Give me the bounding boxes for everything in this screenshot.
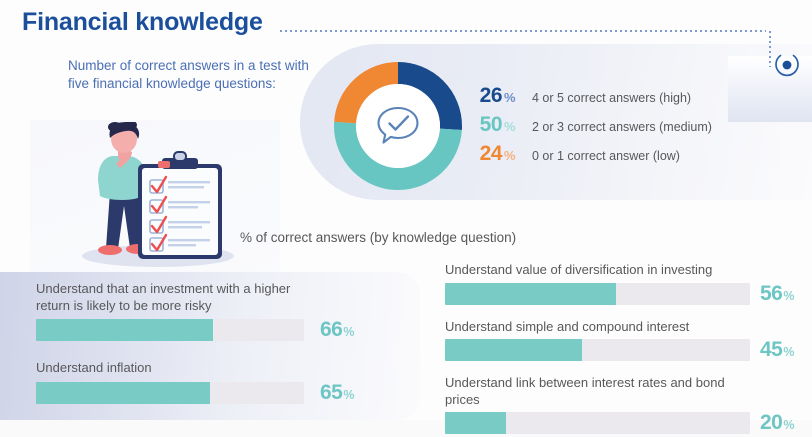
bar-value-number-diversification: 56 (760, 282, 782, 306)
bar-fill-inflation (36, 382, 210, 404)
legend-value-low: 24 (466, 142, 502, 166)
speech-bubble-check-icon (372, 100, 424, 152)
bar-value-diversification: 56 % (760, 282, 794, 306)
bar-track-interest (445, 339, 750, 361)
bar-value-interest: 45 % (760, 338, 794, 362)
header: Financial knowledge (22, 6, 812, 48)
bar-label-interest: Understand simple and compound interest (445, 319, 755, 336)
bar-value-number-bond-prices: 20 (760, 411, 782, 435)
bar-group-left: Understand that an investment with a hig… (36, 281, 408, 405)
intro-text: Number of correct answers in a test with… (68, 57, 318, 92)
legend-percent-low: % (502, 148, 526, 163)
header-dotted-rule (280, 30, 766, 32)
legend-value-high: 26 (466, 84, 502, 108)
bar-value-bond-prices: 20 % (760, 411, 794, 435)
infographic-canvas: Financial knowledge Number of correct an… (0, 0, 812, 437)
bar-value-percent-interest: % (782, 345, 794, 359)
bar-value-percent-diversification: % (782, 289, 794, 303)
bar-value-risk: 66 % (320, 318, 354, 342)
legend-value-medium: 50 (466, 113, 502, 137)
legend-item-low: 24 % 0 or 1 correct answer (low) (466, 142, 766, 171)
bar-label-inflation: Understand inflation (36, 360, 304, 377)
bar-label-bond-prices: Understand link between interest rates a… (445, 375, 755, 408)
legend-label-high: 4 or 5 correct answers (high) (526, 91, 691, 105)
location-dot-icon (770, 48, 804, 87)
bar-value-inflation: 65 % (320, 381, 354, 405)
bar-row-bond-prices: Understand link between interest rates a… (445, 375, 812, 435)
person-with-clipboard-illustration (62, 122, 254, 270)
bar-label-diversification: Understand value of diversification in i… (445, 262, 755, 279)
legend-percent-high: % (502, 90, 526, 105)
bar-fill-interest (445, 339, 582, 361)
bars-subtitle: % of correct answers (by knowledge quest… (240, 230, 516, 245)
bar-label-risk: Understand that an investment with a hig… (36, 281, 304, 314)
bar-row-risk: Understand that an investment with a hig… (36, 281, 408, 342)
bar-value-percent-risk: % (342, 325, 354, 339)
legend-label-medium: 2 or 3 correct answers (medium) (526, 120, 712, 134)
donut-chart (322, 50, 474, 202)
donut-legend: 26 % 4 or 5 correct answers (high) 50 % … (466, 84, 766, 171)
bar-track-diversification (445, 283, 750, 305)
bar-row-inflation: Understand inflation 65 % (36, 360, 408, 405)
bar-value-percent-bond-prices: % (782, 418, 794, 432)
bar-track-bond-prices (445, 412, 750, 434)
bar-track-inflation (36, 382, 304, 404)
legend-percent-medium: % (502, 119, 526, 134)
bar-group-right: Understand value of diversification in i… (445, 262, 812, 435)
bar-row-interest: Understand simple and compound interest … (445, 319, 812, 363)
bar-row-diversification: Understand value of diversification in i… (445, 262, 812, 306)
bar-value-number-inflation: 65 (320, 381, 342, 405)
bar-track-risk (36, 319, 304, 341)
bar-fill-bond-prices (445, 412, 506, 434)
bar-value-number-risk: 66 (320, 318, 342, 342)
legend-label-low: 0 or 1 correct answer (low) (526, 149, 680, 163)
bar-value-percent-inflation: % (342, 388, 354, 402)
bar-value-number-interest: 45 (760, 338, 782, 362)
legend-item-high: 26 % 4 or 5 correct answers (high) (466, 84, 766, 113)
page-title: Financial knowledge (22, 8, 263, 37)
legend-item-medium: 50 % 2 or 3 correct answers (medium) (466, 113, 766, 142)
bar-fill-risk (36, 319, 213, 341)
bar-fill-diversification (445, 283, 616, 305)
